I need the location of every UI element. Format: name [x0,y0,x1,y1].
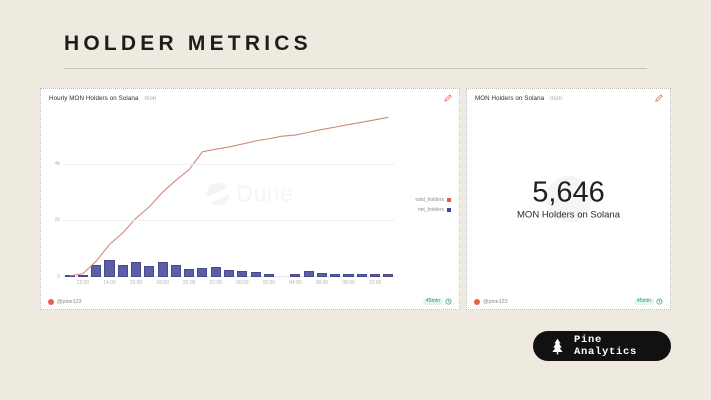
y-axis-tick: 2k [55,217,60,223]
x-axis-tick: 02:00 [263,280,276,286]
pencil-icon[interactable] [444,94,452,102]
gridline [63,220,395,221]
y-axis-tick: 4k [55,161,60,167]
x-axis-tick: 18:00 [156,280,169,286]
refresh-badge: 45min [423,298,443,305]
stat-label: MON Holders on Solana [467,210,670,221]
pine-tree-icon [550,338,565,355]
chart-refresh-status[interactable]: 45min [423,298,452,305]
x-axis-tick: 04:00 [289,280,302,286]
chart-panel-title: Hourly MON Holders on Solana [49,95,138,102]
gridline [63,164,395,165]
x-axis-tick: 10:00 [369,280,382,286]
x-axis-tick: 08:00 [342,280,355,286]
x-axis-tick: 00:00 [236,280,249,286]
brand-pill[interactable]: Pine Analytics [533,331,671,361]
chart-panel-header: Hourly MON Holders on Solana mon [49,95,451,102]
refresh-badge: 45min [634,298,654,305]
stat-panel-tag: mon [550,96,562,102]
total-holders-line [63,113,395,277]
page-title: HOLDER METRICS [64,32,312,56]
stat-content: 5,646 MON Holders on Solana [467,177,670,220]
author-handle: @pine123 [483,299,508,305]
page-root: HOLDER METRICS Hourly MON Holders on Sol… [0,0,711,400]
legend-item-net-holders[interactable]: net_holders [415,207,451,213]
title-divider [64,68,647,69]
stat-panel[interactable]: MON Holders on Solana mon 5,646 MON Hold… [466,88,671,310]
legend-swatch-icon [447,208,451,212]
pencil-icon[interactable] [655,94,663,102]
chart-legend: total_holders net_holders [415,197,451,213]
chart-plot: 2k4k012:0014:0016:0018:0020:0022:0000:00… [63,113,395,277]
stat-panel-title: MON Holders on Solana [475,95,544,102]
chart-panel-tag: mon [144,96,156,102]
brand-name: Pine Analytics [574,334,671,358]
x-axis-tick: 20:00 [183,280,196,286]
legend-swatch-icon [447,198,451,202]
x-axis-tick: 14:00 [103,280,116,286]
avatar [474,299,480,305]
x-axis-tick: 22:00 [209,280,222,286]
stat-refresh-status[interactable]: 45min [634,298,663,305]
x-axis-tick: 12:00 [77,280,90,286]
stat-panel-footer: @pine123 45min [474,295,663,305]
chart-area: 2k4k012:0014:0016:0018:0020:0022:0000:00… [49,111,451,291]
y-axis-tick: 0 [57,274,60,280]
line-path [70,117,389,276]
stat-panel-author[interactable]: @pine123 [474,299,508,305]
chart-panel-author[interactable]: @pine123 [48,299,82,305]
chart-panel-footer: @pine123 45min [48,295,452,305]
stat-value: 5,646 [467,177,670,207]
stat-panel-header: MON Holders on Solana mon [475,95,662,102]
x-axis-tick: 16:00 [130,280,143,286]
x-axis-tick: 06:00 [316,280,329,286]
author-handle: @pine123 [57,299,82,305]
avatar [48,299,54,305]
legend-item-total-holders[interactable]: total_holders [415,197,451,203]
refresh-icon[interactable] [445,298,452,305]
refresh-icon[interactable] [656,298,663,305]
legend-label: net_holders [418,207,444,213]
legend-label: total_holders [415,197,444,203]
chart-panel[interactable]: Hourly MON Holders on Solana mon 2k4k012… [40,88,460,310]
